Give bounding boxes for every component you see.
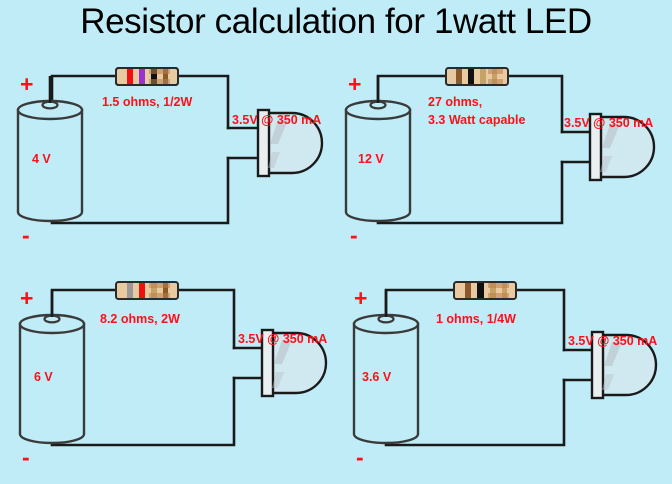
wire-to-led-anode — [178, 290, 234, 348]
battery-minus-sign: - — [350, 224, 358, 247]
page-title: Resistor calculation for 1watt LED — [0, 2, 672, 42]
battery-plus-sign: + — [20, 287, 33, 310]
battery-plus-sign: + — [354, 287, 367, 310]
resistor-value-label: 1.5 ohms, 1/2W — [102, 95, 192, 110]
resistor-symbol — [116, 68, 178, 85]
wire-to-led-anode — [516, 290, 564, 350]
resistor-value-label-line2: 3.3 Watt capable — [428, 113, 526, 128]
circuit-bottom-right: + - 3.6 V 1 ohms, 1/4W 3.5V @ 350 mA — [336, 272, 672, 484]
led-spec-label: 3.5V @ 350 mA — [564, 116, 653, 131]
resistor-symbol — [116, 282, 178, 299]
led-spec-label: 3.5V @ 350 mA — [568, 334, 657, 349]
battery-voltage-label: 6 V — [34, 370, 53, 385]
resistor-symbol — [454, 282, 516, 299]
circuit-bottom-left: + - 6 V 8.2 ohms, 2W 3.5V @ 350 mA — [0, 272, 336, 484]
diagram-canvas: Resistor calculation for 1watt LED — [0, 0, 672, 480]
circuit-top-left: + - 4 V 1.5 ohms, 1/2W 3.5V @ 350 mA — [0, 60, 336, 272]
battery-plus-sign: + — [20, 73, 33, 96]
battery-voltage-label: 12 V — [358, 152, 384, 167]
battery-symbol — [354, 290, 418, 443]
resistor-value-label: 1 ohms, 1/4W — [436, 312, 516, 327]
led-spec-label: 3.5V @ 350 mA — [232, 113, 321, 128]
battery-symbol — [346, 76, 410, 221]
resistor-value-label: 8.2 ohms, 2W — [100, 312, 180, 327]
battery-minus-sign: - — [356, 446, 364, 469]
battery-symbol — [18, 76, 82, 221]
battery-plus-sign: + — [348, 73, 361, 96]
battery-voltage-label: 4 V — [32, 152, 51, 167]
battery-voltage-label: 3.6 V — [362, 370, 391, 385]
resistor-value-label-line1: 27 ohms, — [428, 95, 482, 110]
resistor-symbol — [446, 68, 508, 85]
circuit-schematic — [336, 60, 672, 260]
battery-minus-sign: - — [22, 224, 30, 247]
led-spec-label: 3.5V @ 350 mA — [238, 332, 327, 347]
battery-minus-sign: - — [22, 446, 30, 469]
circuit-top-right: + - 12 V 27 ohms, 3.3 Watt capable 3.5V … — [336, 60, 672, 272]
battery-symbol — [20, 290, 84, 443]
